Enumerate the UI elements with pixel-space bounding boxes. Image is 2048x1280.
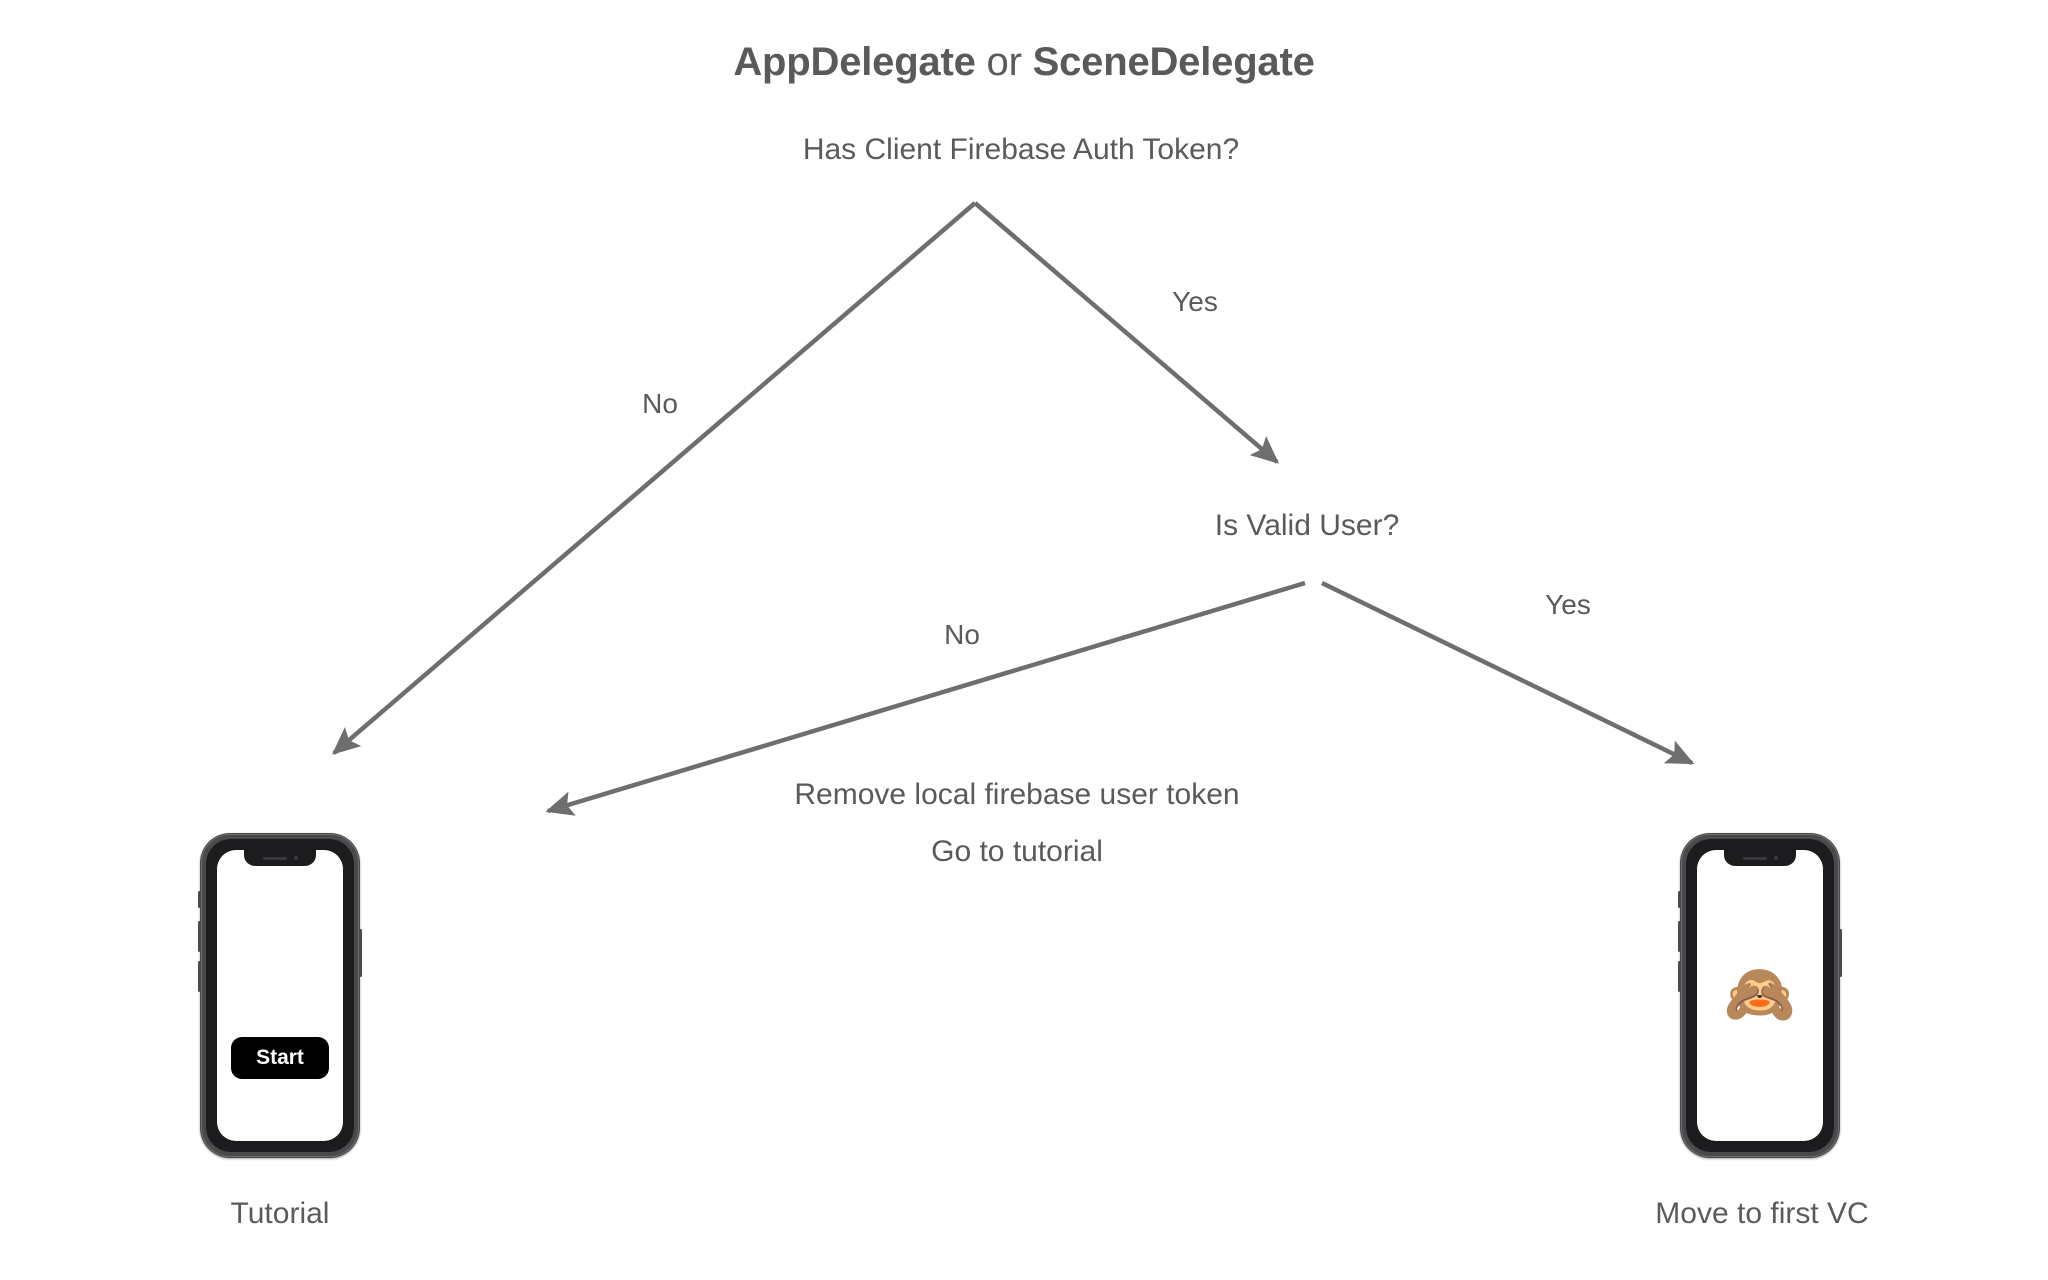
- edge-label-q2-no: No: [944, 618, 980, 652]
- title-connector: or: [976, 40, 1033, 84]
- title-part-scenedelegate: SceneDelegate: [1033, 40, 1315, 84]
- volume-up-button: [198, 921, 201, 952]
- edge-q2-yes: [1322, 583, 1692, 763]
- power-button-right: [1839, 929, 1842, 977]
- edge-label-q1-no: No: [642, 387, 678, 421]
- phone-frame-left: Start: [200, 833, 360, 1158]
- phone-screen-tutorial: Start: [217, 850, 343, 1141]
- decision-node-is-valid-user: Is Valid User?: [1215, 508, 1400, 544]
- volume-up-button-right: [1678, 921, 1681, 952]
- phone-bezel-left: Start: [206, 839, 354, 1152]
- see-no-evil-monkey-emoji-icon: 🙈: [1724, 964, 1796, 1022]
- diagram-canvas: AppDelegate or SceneDelegate Has Client …: [0, 0, 2048, 1280]
- notch-icon-right: [1724, 850, 1796, 866]
- caption-tutorial: Tutorial: [231, 1196, 330, 1232]
- edge-label-q2-yes: Yes: [1545, 588, 1591, 622]
- action-remove-local-token: Remove local firebase user token: [794, 777, 1239, 813]
- silent-switch-icon: [198, 891, 201, 908]
- phone-bezel-right: 🙈: [1686, 839, 1834, 1152]
- volume-down-button: [198, 961, 201, 992]
- notch-icon: [244, 850, 316, 866]
- caption-move-to-first-vc: Move to first VC: [1655, 1196, 1868, 1232]
- phone-mockup-tutorial: Start: [200, 833, 360, 1158]
- title-part-appdelegate: AppDelegate: [733, 40, 975, 84]
- edge-q1-yes: [975, 203, 1277, 462]
- phone-screen-first-vc: 🙈: [1697, 850, 1823, 1141]
- phone-mockup-first-vc: 🙈: [1680, 833, 1840, 1158]
- front-camera-icon-right: [1774, 856, 1778, 860]
- front-camera-icon: [294, 856, 298, 860]
- earpiece-speaker-icon: [263, 857, 287, 860]
- start-button[interactable]: Start: [231, 1037, 329, 1079]
- phone-frame-right: 🙈: [1680, 833, 1840, 1158]
- decision-node-has-auth-token: Has Client Firebase Auth Token?: [803, 132, 1239, 168]
- earpiece-speaker-icon-right: [1743, 857, 1767, 860]
- edge-q1-no: [334, 203, 975, 753]
- page-title: AppDelegate or SceneDelegate: [733, 38, 1314, 86]
- volume-down-button-right: [1678, 961, 1681, 992]
- edge-label-q1-yes: Yes: [1172, 285, 1218, 319]
- power-button: [359, 929, 362, 977]
- silent-switch-icon-right: [1678, 891, 1681, 908]
- action-go-to-tutorial: Go to tutorial: [931, 834, 1103, 870]
